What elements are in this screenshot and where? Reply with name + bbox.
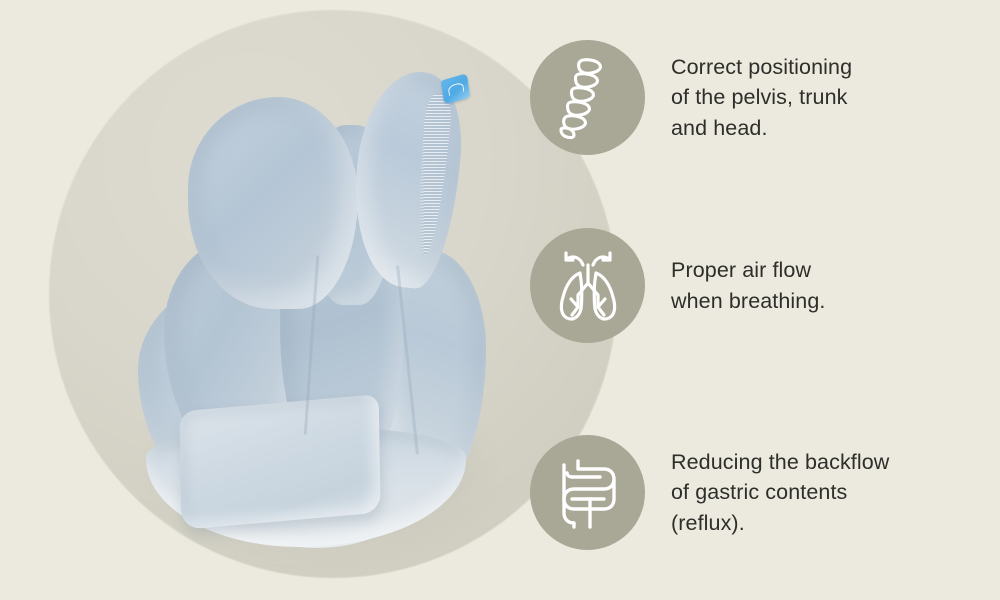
feature-row-intestine: Reducing the backflow of gastric content… bbox=[530, 435, 889, 550]
feature-text-lungs: Proper air flow when breathing. bbox=[671, 255, 826, 316]
feature-row-spine: Correct positioning of the pelvis, trunk… bbox=[530, 40, 852, 155]
lungs-airflow-icon bbox=[550, 249, 626, 323]
spine-icon bbox=[557, 56, 619, 140]
brand-tag-icon bbox=[441, 73, 470, 104]
product-front-insert-pad bbox=[179, 394, 380, 530]
feature-badge-intestine[interactable] bbox=[530, 435, 645, 550]
feature-badge-spine[interactable] bbox=[530, 40, 645, 155]
feature-text-intestine: Reducing the backflow of gastric content… bbox=[671, 447, 889, 539]
intestine-icon bbox=[552, 455, 624, 531]
feature-row-lungs: Proper air flow when breathing. bbox=[530, 228, 826, 343]
feature-text-spine: Correct positioning of the pelvis, trunk… bbox=[671, 52, 852, 144]
infographic-canvas: Correct positioning of the pelvis, trunk… bbox=[0, 0, 1000, 600]
product-image bbox=[120, 55, 520, 545]
product-head-support-left bbox=[188, 97, 358, 309]
feature-badge-lungs[interactable] bbox=[530, 228, 645, 343]
